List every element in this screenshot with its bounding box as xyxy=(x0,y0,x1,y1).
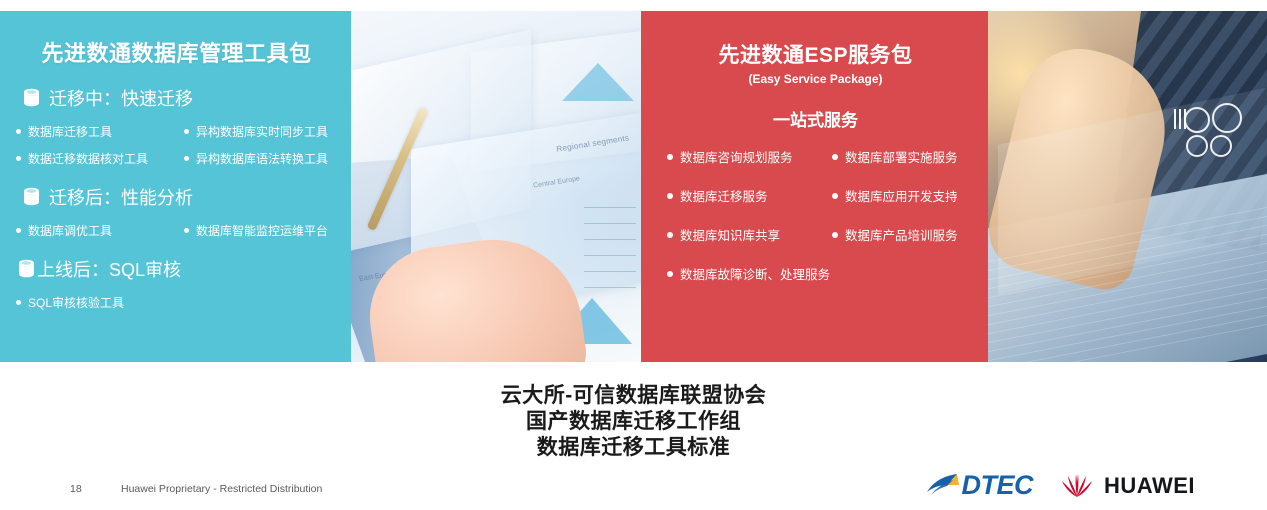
bullet-dot-icon xyxy=(184,228,189,233)
bullet-dot-icon xyxy=(832,193,838,199)
page-number: 18 xyxy=(70,483,82,495)
section-heading-after-migration: 迁移后：性能分析 xyxy=(23,184,339,210)
photo-chart-rule xyxy=(584,271,636,272)
bullet-dot-icon xyxy=(667,232,673,238)
photo-hud-ring xyxy=(1210,135,1232,157)
right-panel-subtitle: (Easy Service Package) xyxy=(661,72,970,86)
section-heading-label: 迁移后：性能分析 xyxy=(49,184,193,210)
section-heading-migrating: 迁移中：快速迁移 xyxy=(23,85,339,111)
list-item-label: 数据库应用开发支持 xyxy=(845,186,958,205)
list-item: 数据库故障诊断、处理服务 xyxy=(667,264,970,283)
list-item: 数据库应用开发支持 xyxy=(832,186,970,205)
bullet-grid-after-golive: SQL审核核验工具 xyxy=(14,294,339,311)
right-panel-title: 先进数通ESP服务包 xyxy=(661,39,970,69)
list-item-label: 数据库知识库共享 xyxy=(680,225,780,244)
headline-line-2: 国产数据库迁移工作组 xyxy=(0,409,1267,435)
list-item-label: 异构数据库语法转换工具 xyxy=(196,150,328,167)
bullet-dot-icon xyxy=(16,156,21,161)
photo-chart-rule xyxy=(584,239,636,240)
list-item: 异构数据库语法转换工具 xyxy=(184,150,339,167)
section-heading-label: 迁移中：快速迁移 xyxy=(49,85,193,111)
list-item-label: 数据库产品培训服务 xyxy=(845,225,958,244)
panel-esp-service: 先进数通ESP服务包 (Easy Service Package) 一站式服务 … xyxy=(641,11,988,362)
list-item-label: 数据库部署实施服务 xyxy=(845,147,958,166)
bullet-dot-icon xyxy=(16,129,21,134)
headline-line-1: 云大所-可信数据库联盟协会 xyxy=(0,383,1267,409)
panel-database-toolkit: 先进数通数据库管理工具包 迁移中：快速迁移 数据库迁移工具 异构数据库实时同步工… xyxy=(0,11,351,362)
list-item: 数据库咨询规划服务 xyxy=(667,147,832,166)
logo-row: DTEC HUAWEI xyxy=(926,470,1196,501)
huawei-flower-icon xyxy=(1059,473,1095,499)
photo-chart-rule xyxy=(584,207,636,208)
bullet-dot-icon xyxy=(16,300,21,305)
list-item: 数据迁移数据核对工具 xyxy=(16,150,184,167)
dtec-arrow-icon xyxy=(926,473,960,499)
bullet-dot-icon xyxy=(184,156,189,161)
list-item: 数据库智能监控运维平台 xyxy=(184,222,339,239)
list-item: 数据库部署实施服务 xyxy=(832,147,970,166)
list-item: SQL审核核验工具 xyxy=(16,294,339,311)
photo-chart-triangle xyxy=(562,63,634,101)
photo-hud-ring xyxy=(1212,103,1242,133)
photo-tablet-tech xyxy=(988,11,1267,362)
bullet-grid-migrating: 数据库迁移工具 异构数据库实时同步工具 数据迁移数据核对工具 异构数据库语法转换… xyxy=(14,123,339,167)
huawei-wordmark: HUAWEI xyxy=(1104,473,1195,499)
database-icon xyxy=(18,259,35,279)
list-item: 数据库迁移工具 xyxy=(16,123,184,140)
list-item-label: 数据库故障诊断、处理服务 xyxy=(680,264,830,283)
photo-chart-rule xyxy=(584,287,636,288)
dtec-wordmark: DTEC xyxy=(962,470,1034,501)
list-item-label: 数据库调优工具 xyxy=(28,222,112,239)
list-item: 数据库调优工具 xyxy=(16,222,184,239)
bullet-dot-icon xyxy=(184,129,189,134)
database-icon xyxy=(23,187,40,207)
bullet-dot-icon xyxy=(832,154,838,160)
bullet-grid-after-migration: 数据库调优工具 数据库智能监控运维平台 xyxy=(14,222,339,239)
list-item-label: 异构数据库实时同步工具 xyxy=(196,123,328,140)
huawei-logo: HUAWEI xyxy=(1059,473,1195,499)
bullet-dot-icon xyxy=(667,193,673,199)
list-item-label: 数据库迁移服务 xyxy=(680,186,768,205)
slide-headline: 云大所-可信数据库联盟协会 国产数据库迁移工作组 数据库迁移工具标准 xyxy=(0,383,1267,461)
confidentiality-note: Huawei Proprietary - Restricted Distribu… xyxy=(121,483,322,495)
list-item-label: 数据库迁移工具 xyxy=(28,123,112,140)
list-item: 数据库产品培训服务 xyxy=(832,225,970,244)
section-heading-after-golive: 上线后：SQL审核 xyxy=(18,256,339,282)
photo-hud-ring xyxy=(1186,135,1208,157)
list-item-label: 数据迁移数据核对工具 xyxy=(28,150,148,167)
photo-chart-rule xyxy=(584,223,636,224)
bullet-grid-esp: 数据库咨询规划服务 数据库部署实施服务 数据库迁移服务 数据库应用开发支持 数据… xyxy=(661,147,970,283)
photo-hud-ring xyxy=(1184,107,1210,133)
slide-canvas: Regional segments Central Europe West Eu… xyxy=(0,0,1267,510)
list-item: 异构数据库实时同步工具 xyxy=(184,123,339,140)
banner-band: Regional segments Central Europe West Eu… xyxy=(0,11,1267,362)
bullet-dot-icon xyxy=(16,228,21,233)
list-item-label: SQL审核核验工具 xyxy=(28,294,124,311)
list-item: 数据库迁移服务 xyxy=(667,186,832,205)
list-item: 数据库知识库共享 xyxy=(667,225,832,244)
list-item-label: 数据库咨询规划服务 xyxy=(680,147,793,166)
database-icon xyxy=(23,88,40,108)
left-panel-title: 先进数通数据库管理工具包 xyxy=(14,36,339,68)
headline-line-3: 数据库迁移工具标准 xyxy=(0,435,1267,461)
list-item-label: 数据库智能监控运维平台 xyxy=(196,222,328,239)
photo-chart-rule xyxy=(584,255,636,256)
bullet-dot-icon xyxy=(667,154,673,160)
photo-charts-pen: Regional segments Central Europe West Eu… xyxy=(351,11,642,362)
right-panel-tagline: 一站式服务 xyxy=(661,106,970,131)
section-heading-label: 上线后：SQL审核 xyxy=(37,256,181,282)
dtec-logo: DTEC xyxy=(926,470,1034,501)
bullet-dot-icon xyxy=(832,232,838,238)
bullet-dot-icon xyxy=(667,271,673,277)
